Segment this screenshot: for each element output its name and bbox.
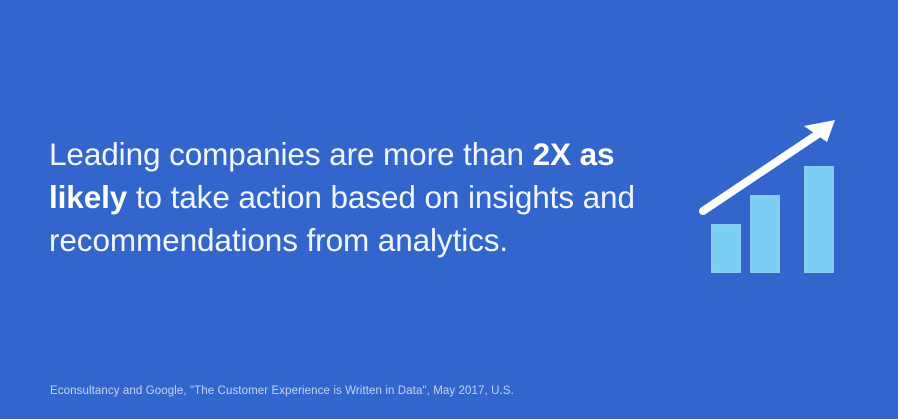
- bar-2: [751, 196, 779, 272]
- growth-bar-chart-icon: [690, 110, 850, 280]
- bar-group: [712, 167, 833, 272]
- headline-text: Leading companies are more than 2X as li…: [49, 133, 639, 262]
- bar-3: [805, 167, 833, 272]
- bar-1: [712, 225, 740, 272]
- slide-canvas: Leading companies are more than 2X as li…: [0, 0, 898, 419]
- headline-segment-2: to take action based on insights and rec…: [49, 179, 635, 258]
- headline-segment-1: Leading companies are more than: [49, 136, 533, 172]
- source-citation: Econsultancy and Google, "The Customer E…: [50, 384, 514, 398]
